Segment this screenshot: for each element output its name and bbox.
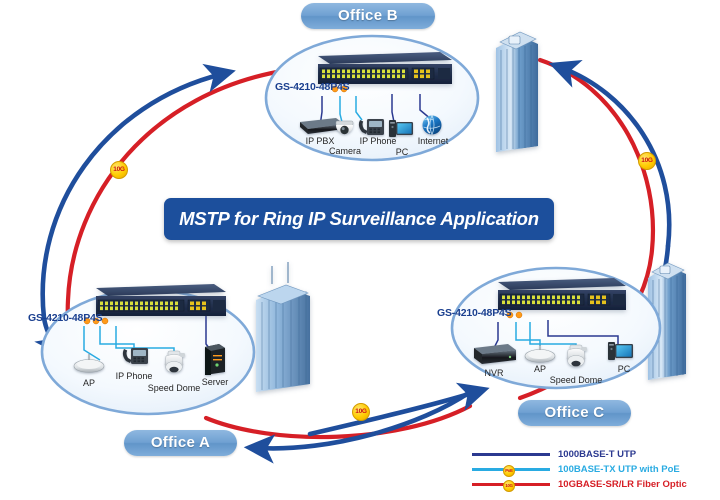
device-label-camera: Camera [322,146,368,156]
server-icon [205,344,225,375]
switch-office-b [318,52,452,84]
device-label-ip-phone: IP Phone [355,136,401,146]
office-a-label: Office A [124,430,237,456]
switch-model-label-office-b: GS-4210-48P4S [275,81,349,93]
legend-label-10gbase-fiber: 10GBASE-SR/LR Fiber Optic [550,479,687,490]
legend-item-100base-tx-poe: PoE 100BASE-TX UTP with PoE [472,462,716,477]
device-label-pc: PC [388,147,416,157]
switch-office-a [96,284,226,316]
device-label-ap: AP [74,378,104,388]
switch-office-c [498,278,626,310]
legend-line-10gbase-fiber: 10G [472,477,550,492]
device-label-speed-dome: Speed Dome [548,375,604,385]
legend: 1000BASE-T UTP PoE 100BASE-TX UTP with P… [472,447,716,492]
device-label-pc: PC [611,364,637,374]
device-label-server: Server [195,377,235,387]
office-c-label: Office C [518,400,631,426]
pc-icon [389,120,413,137]
office-a-group [42,284,254,414]
legend-label-100base-tx-poe: 100BASE-TX UTP with PoE [550,464,680,475]
building-office-b [496,32,538,152]
device-label-internet: Internet [412,136,454,146]
pc-icon [608,342,633,360]
legend-label-1000base-t: 1000BASE-T UTP [550,449,636,460]
switch-model-label-office-c: GS-4210-48P4S [437,307,511,319]
poe-badge-icon: PoE [503,465,515,477]
ring-badge-10g-right: 10G [638,152,656,170]
device-label-nvr: NVR [478,368,510,378]
globe-icon [423,116,442,135]
diagram-title-banner: MSTP for Ring IP Surveillance Applicatio… [164,198,554,240]
switch-model-label-office-a: GS-4210-48P4S [28,312,102,324]
diagram-canvas: Office B Office A Office C MSTP for Ring… [0,0,720,500]
building-office-a [256,262,310,392]
device-label-speed-dome: Speed Dome [146,383,202,393]
device-label-ap: AP [526,364,554,374]
device-label-ip-phone: IP Phone [111,371,157,381]
office-b-label: Office B [301,3,435,29]
legend-item-1000base-t: 1000BASE-T UTP [472,447,716,462]
ring-badge-10g-left: 10G [110,161,128,179]
device-label-ip-pbx: IP PBX [297,136,343,146]
legend-line-100base-tx-poe: PoE [472,462,550,477]
legend-item-10gbase-fiber: 10G 10GBASE-SR/LR Fiber Optic [472,477,716,492]
badge-10g-icon: 10G [503,480,515,492]
legend-line-1000base-t [472,447,550,462]
diagram-title: MSTP for Ring IP Surveillance Applicatio… [179,208,539,230]
ring-badge-10g-bottom: 10G [352,403,370,421]
